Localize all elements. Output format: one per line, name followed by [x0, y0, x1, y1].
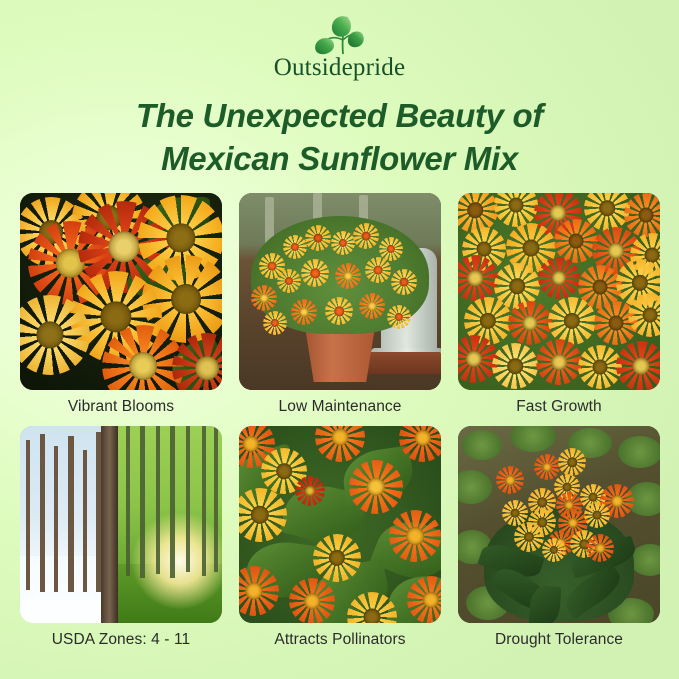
feature-card-fast-growth: Fast Growth — [458, 193, 660, 415]
feature-image-drought-tolerance — [458, 426, 660, 623]
infographic-page: Outsidepride The Unexpected Beauty of Me… — [0, 0, 679, 679]
feature-image-vibrant-blooms — [20, 193, 222, 390]
feature-caption: USDA Zones: 4 - 11 — [20, 623, 222, 648]
brand-logo: Outsidepride — [0, 0, 679, 80]
feature-grid: Vibrant Blooms — [20, 193, 659, 648]
title-line-1: The Unexpected Beauty of — [36, 95, 643, 138]
title-line-2: Mexican Sunflower Mix — [36, 138, 643, 181]
feature-caption: Low Maintenance — [239, 390, 441, 415]
feature-image-fast-growth — [458, 193, 660, 390]
sprout-leaves-icon — [297, 10, 383, 58]
feature-caption: Drought Tolerance — [458, 623, 660, 648]
feature-card-vibrant-blooms: Vibrant Blooms — [20, 193, 222, 415]
page-title: The Unexpected Beauty of Mexican Sunflow… — [0, 95, 679, 181]
feature-card-drought-tolerance: Drought Tolerance — [458, 426, 660, 648]
feature-card-low-maintenance: Low Maintenance — [239, 193, 441, 415]
feature-card-attracts-pollinators: Attracts Pollinators — [239, 426, 441, 648]
feature-card-usda-zones: USDA Zones: 4 - 11 — [20, 426, 222, 648]
brand-wordmark: Outsidepride — [274, 55, 406, 80]
feature-image-low-maintenance — [239, 193, 441, 390]
feature-image-usda-zones — [20, 426, 222, 623]
feature-caption: Attracts Pollinators — [239, 623, 441, 648]
feature-image-attracts-pollinators — [239, 426, 441, 623]
feature-caption: Vibrant Blooms — [20, 390, 222, 415]
feature-caption: Fast Growth — [458, 390, 660, 415]
